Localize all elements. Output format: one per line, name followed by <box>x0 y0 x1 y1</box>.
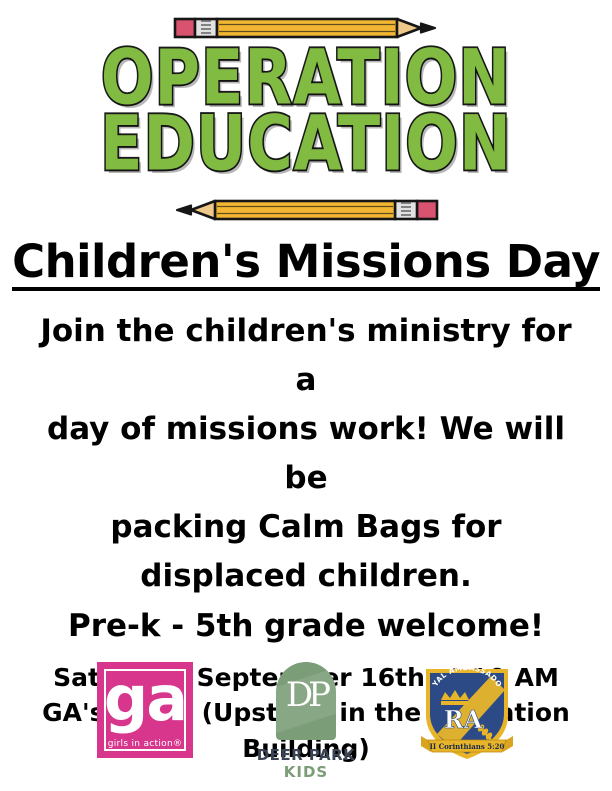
deer-park-kids-sub: KIDS <box>284 763 328 782</box>
deer-park-monogram: DP <box>276 678 336 712</box>
body-line-1: Join the children's ministry for a <box>30 307 582 405</box>
ra-banner-text: II Corinthians 5:20 <box>430 742 505 751</box>
royal-ambassadors-logo: ROYAL AMBASSADORS RA II Corinthians 5:20 <box>419 662 515 762</box>
body-line-4: displaced children. <box>30 552 582 601</box>
ga-logo-tagline: girls in action® <box>97 739 193 749</box>
body-line-2: day of missions work! We will be <box>30 405 582 503</box>
ga-logo-letters: ga <box>97 668 193 730</box>
pencil-bottom-decoration <box>0 196 612 224</box>
deer-park-arch-icon: DP <box>276 662 336 740</box>
body-line-3: packing Calm Bags for <box>30 503 582 552</box>
pencil-pointing-left-icon <box>172 196 440 224</box>
girls-in-action-logo: ga girls in action® <box>97 662 193 758</box>
page-title-text: Children's Missions Day <box>12 238 600 291</box>
body-paragraph: Join the children's ministry for a day o… <box>0 307 612 601</box>
deer-park-kids-logo: DP DEER PARK KIDS <box>251 662 361 782</box>
grade-range-line: Pre-k - 5th grade welcome! <box>0 603 612 650</box>
operation-education-logo: OPERATION EDUCATION <box>0 0 612 232</box>
ra-monogram: RA <box>444 705 483 734</box>
operation-education-wordmark: OPERATION EDUCATION <box>0 46 612 164</box>
flyer-page: { "page": { "background_color": "#ffffff… <box>0 0 612 791</box>
logo-word-education: EDUCATION <box>0 112 612 176</box>
deer-park-name: DEER PARK <box>257 747 356 764</box>
partner-logos-row: ga girls in action® DP DEER PARK KIDS <box>0 662 612 787</box>
page-title: Children's Missions Day <box>0 238 612 291</box>
